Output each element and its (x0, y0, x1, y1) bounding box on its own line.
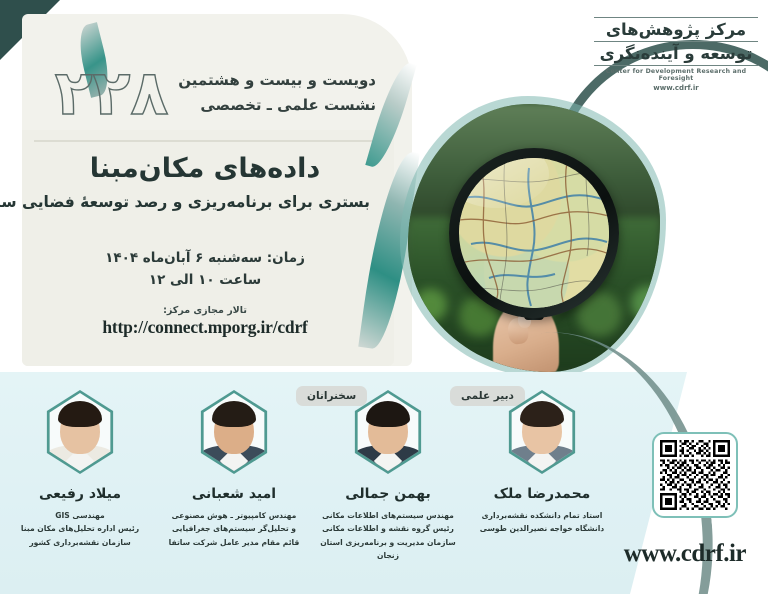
speaker-card[interactable]: امید شعبانی مهندس کامپیوتر ـ هوش مصنوعی … (158, 390, 310, 590)
speaker-title-line: سازمان نقشه‌برداری کشور (4, 536, 156, 549)
portrait-hair (520, 401, 564, 427)
speakers-list: دبیر علمی محمدرضا ملک استاد تمام دان (0, 390, 640, 590)
speaker-name: میلاد رفیعی (4, 486, 156, 502)
speaker-card[interactable]: دبیر علمی محمدرضا ملک استاد تمام دان (466, 390, 618, 590)
portrait-hair (366, 401, 410, 427)
speaker-title-line: مهندسی GIS (4, 509, 156, 522)
speaker-title-line: استاد تمام دانشکده نقشه‌برداری (466, 509, 618, 522)
page-title: داده‌های مکان‌مبنا (40, 152, 370, 186)
speaker-titles: استاد تمام دانشکده نقشه‌برداری دانشگاه خ… (466, 509, 618, 536)
speaker-title-line: رئیس گروه نقشه و اطلاعات مکانی (312, 522, 464, 535)
speakers-band: دبیر علمی محمدرضا ملک استاد تمام دان (0, 372, 768, 594)
logo-website[interactable]: www.cdrf.ir (594, 84, 758, 92)
session-ordinal-text: دویست و بیست و هشتمین (178, 68, 376, 93)
page-subtitle: بستری برای برنامه‌ریزی و رصد توسعهٔ فضای… (40, 192, 370, 213)
qr-code-icon[interactable] (652, 432, 738, 518)
session-type-text: نشست علمی ـ تخصصی (178, 93, 376, 118)
logo-line-1: مرکز پژوهش‌های (594, 19, 758, 40)
footer-website[interactable]: www.cdrf.ir (624, 540, 746, 568)
portrait-hair (58, 401, 102, 427)
avatar (352, 390, 424, 474)
poster-root: مرکز پژوهش‌های توسعه و آینده‌نگری Center… (0, 0, 768, 594)
speaker-title-line: مهندس سیستم‌های اطلاعات مکانی (312, 509, 464, 522)
title-block: داده‌های مکان‌مبنا بستری برای برنامه‌ریز… (40, 152, 370, 213)
panel-divider (34, 140, 386, 142)
event-join-link[interactable]: http://connect.mporg.ir/cdrf (40, 317, 370, 338)
magnifier-lens-map (459, 158, 609, 308)
speaker-name: محمدرضا ملک (466, 486, 618, 502)
avatar (44, 390, 116, 474)
speaker-title-line: رئیس اداره تحلیل‌های مکان مبنا (4, 522, 156, 535)
speaker-titles: مهندسی GIS رئیس اداره تحلیل‌های مکان مبن… (4, 509, 156, 549)
qr-code-svg (660, 440, 730, 510)
session-header: دویست و بیست و هشتمین نشست علمی ـ تخصصی … (56, 62, 376, 124)
logo-line-2: توسعه و آینده‌نگری (594, 43, 758, 64)
avatar (198, 390, 270, 474)
portrait-hair (212, 401, 256, 427)
logo-rule-top (594, 17, 758, 18)
logo-rule-bottom (594, 65, 758, 66)
speaker-title-line: دانشگاه خواجه نصیرالدین طوسی (466, 522, 618, 535)
speaker-title-line: سازمان مدیریت و برنامه‌ریزی استان زنجان (312, 536, 464, 563)
logo-english-name: Center for Development Research and Fore… (594, 68, 758, 82)
event-time: ساعت ۱۰ الی ۱۲ (40, 270, 370, 292)
event-venue-label: تالار مجازی مرکز: (40, 305, 370, 316)
speaker-title-line: مهندس کامپیوتر ـ هوش مصنوعی (158, 509, 310, 522)
speaker-titles: مهندس سیستم‌های اطلاعات مکانی رئیس گروه … (312, 509, 464, 562)
speaker-card[interactable]: میلاد رفیعی مهندسی GIS رئیس اداره تحلیل‌… (4, 390, 156, 590)
speaker-title-line: و تحلیل‌گر سیستم‌های جغرافیایی (158, 522, 310, 535)
event-meta: زمان: سه‌شنبه ۶ آبان‌ماه ۱۴۰۴ ساعت ۱۰ ال… (40, 248, 370, 338)
logo-rule-mid (594, 41, 758, 42)
avatar (506, 390, 578, 474)
speaker-titles: مهندس کامپیوتر ـ هوش مصنوعی و تحلیل‌گر س… (158, 509, 310, 549)
speaker-card[interactable]: سخنرانان بهمن جمالی مهندس سیستم‌های (312, 390, 464, 590)
organization-logo: مرکز پژوهش‌های توسعه و آینده‌نگری Center… (594, 16, 758, 92)
speaker-name: امید شعبانی (158, 486, 310, 502)
session-number: ۲۲۸ (55, 62, 169, 124)
event-date: زمان: سه‌شنبه ۶ آبان‌ماه ۱۴۰۴ (40, 248, 370, 270)
speaker-title-line: قائم مقام مدیر عامل شرکت ساتفا (158, 536, 310, 549)
session-label-group: دویست و بیست و هشتمین نشست علمی ـ تخصصی (178, 68, 376, 118)
speaker-name: بهمن جمالی (312, 486, 464, 502)
